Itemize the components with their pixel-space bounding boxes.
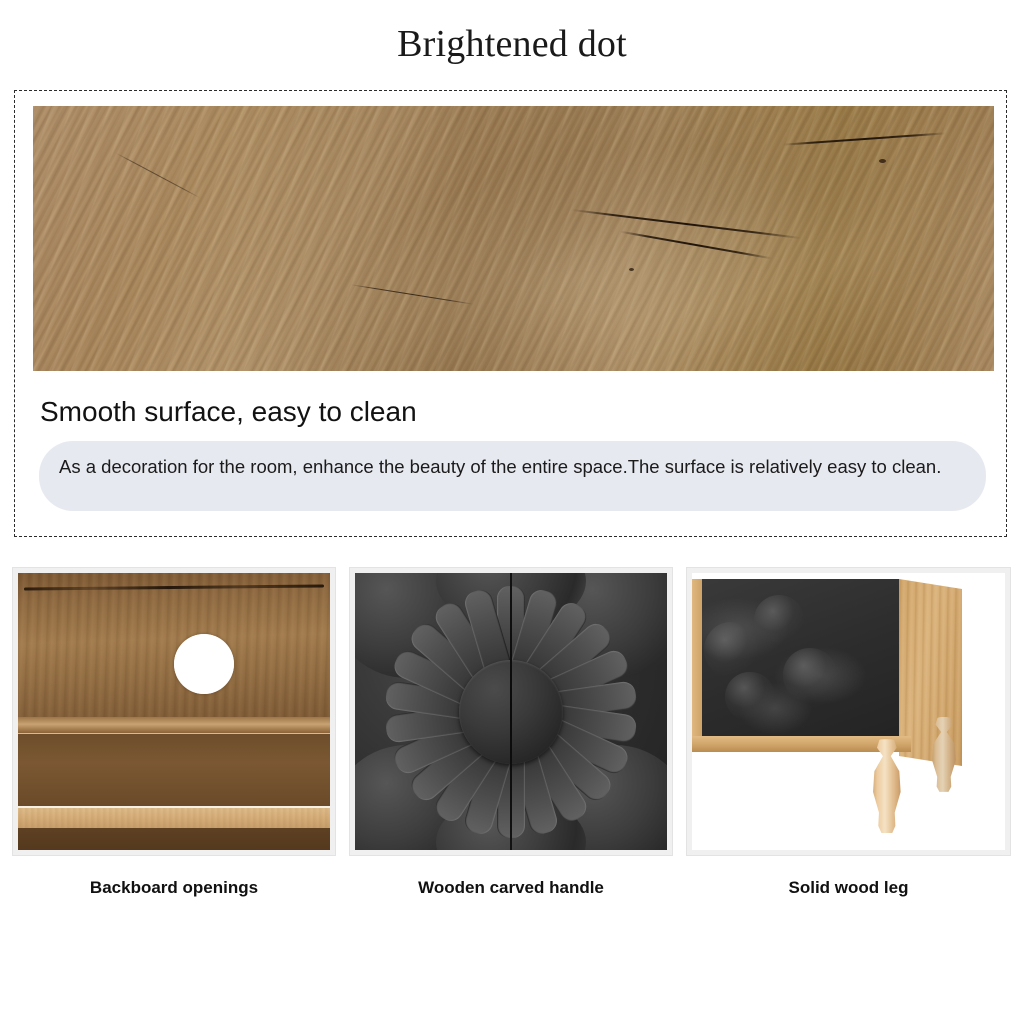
- caption-carved-handle: Wooden carved handle: [350, 878, 672, 898]
- backboard-upper-wood: [18, 573, 330, 717]
- cabinet-left-rim: [692, 579, 702, 751]
- cabinet-carved-front: [692, 579, 899, 745]
- cabinet-door-seam: [510, 573, 512, 850]
- page-title: Brightened dot: [0, 22, 1024, 66]
- backboard-shelf-edge: [18, 717, 330, 734]
- carved-handle-image: [355, 573, 667, 850]
- carving-swirl: [783, 648, 837, 701]
- carving-swirl: [704, 622, 758, 679]
- wood-knot: [879, 159, 886, 163]
- panel-backboard-openings: [13, 568, 335, 855]
- feature-description-box: As a decoration for the room, enhance th…: [39, 441, 986, 511]
- panel-carved-handle: [350, 568, 672, 855]
- wood-leg-image: [692, 573, 1005, 850]
- cable-opening-hole-icon: [174, 634, 234, 694]
- carving-swirl: [725, 672, 775, 722]
- product-feature-page: Brightened dot Smooth surface, easy to c…: [0, 0, 1024, 1024]
- feature-heading: Smooth surface, easy to clean: [40, 396, 417, 428]
- backboard-dark-strip: [18, 828, 330, 850]
- backboard-cavity: [18, 734, 330, 806]
- backboard-light-strip: [18, 806, 330, 828]
- feature-description-text: As a decoration for the room, enhance th…: [59, 454, 964, 480]
- hero-wood-texture-image: [33, 106, 994, 371]
- panel-solid-wood-leg: [687, 568, 1010, 855]
- feature-panel-row: [0, 568, 1024, 858]
- feature-highlight-box: Smooth surface, easy to clean As a decor…: [14, 90, 1007, 537]
- carving-swirl: [754, 595, 804, 645]
- wood-crack: [24, 584, 324, 590]
- caption-backboard-openings: Backboard openings: [13, 878, 335, 898]
- backboard-image: [18, 573, 330, 850]
- wood-knot: [629, 268, 634, 271]
- caption-solid-wood-leg: Solid wood leg: [687, 878, 1010, 898]
- wood-cathedral-rings: [253, 106, 994, 371]
